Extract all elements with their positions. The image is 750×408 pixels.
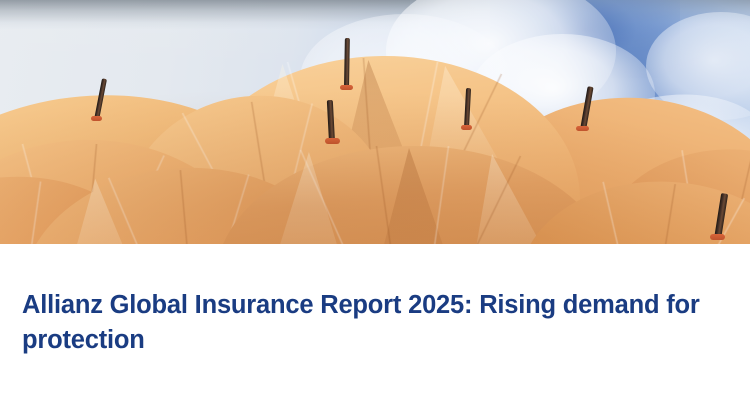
umbrella-seam	[179, 170, 196, 244]
umbrella-seam	[602, 181, 638, 244]
umbrella-finial-collar	[340, 85, 353, 90]
article-teaser-card: Allianz Global Insurance Report 2025: Ri…	[0, 0, 750, 408]
umbrella-photograph	[0, 0, 750, 244]
umbrella-finial-collar	[576, 126, 589, 131]
page-title[interactable]: Allianz Global Insurance Report 2025: Ri…	[22, 288, 728, 358]
umbrella-finial-pole	[344, 38, 350, 88]
umbrella-finial-collar	[91, 116, 102, 121]
umbrella-finial-collar	[710, 234, 725, 240]
umbrella-seam	[650, 184, 676, 244]
hero-image	[0, 0, 750, 244]
umbrella-finial-collar	[325, 138, 340, 144]
teaser-content: Allianz Global Insurance Report 2025: Ri…	[0, 244, 750, 408]
umbrella-seam	[22, 181, 42, 244]
umbrella-finial-collar	[461, 125, 472, 130]
